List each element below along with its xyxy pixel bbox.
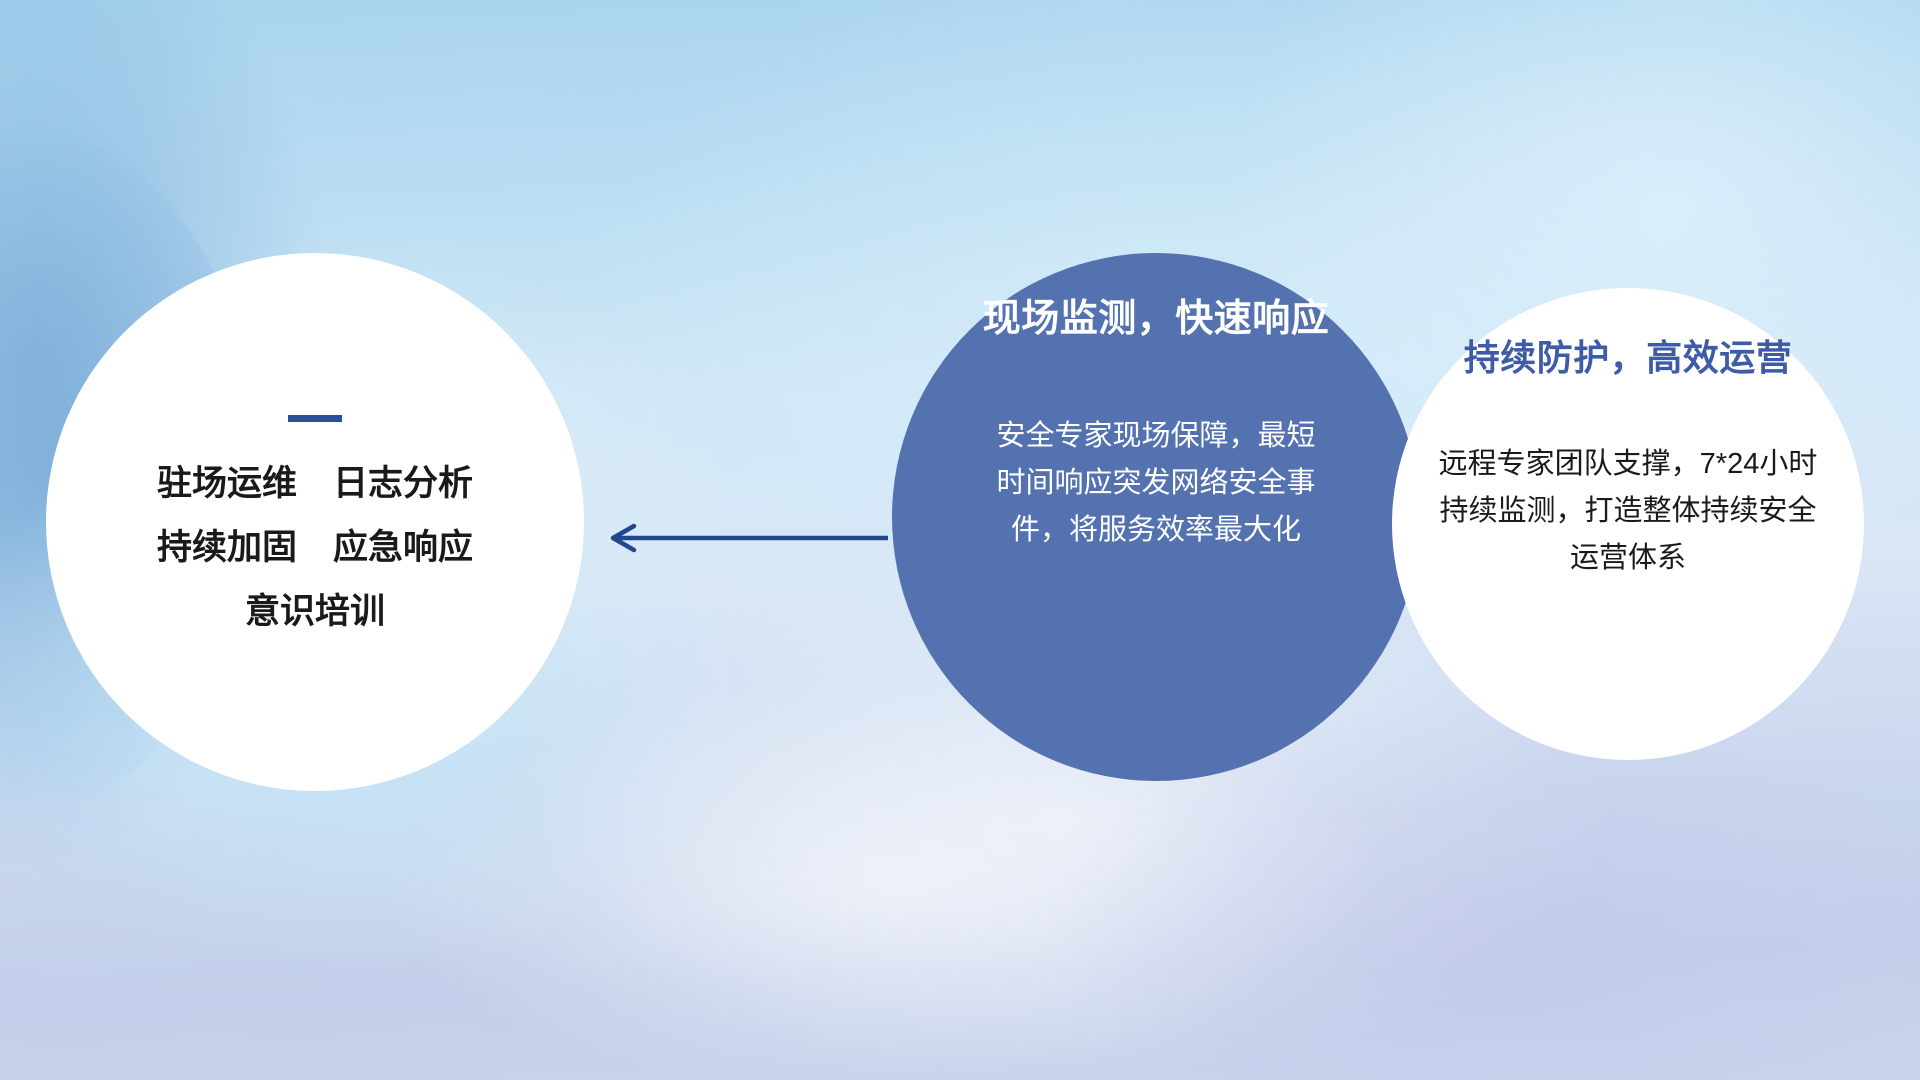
keyword-row: 意识培训 <box>245 594 385 629</box>
left-circle-card: 驻场运维 日志分析 持续加固 应急响应 意识培训 <box>46 253 584 791</box>
right-circle-card: 持续防护，高效运营 远程专家团队支撑，7*24小时持续监测，打造整体持续安全运营… <box>1392 288 1864 760</box>
right-circle-title: 持续防护，高效运营 <box>1464 336 1793 379</box>
middle-circle-body-text: 安全专家现场保障，最短时间响应突发网络安全事件，将服务效率最大化 <box>991 413 1321 554</box>
middle-circle-title: 现场监测，快速响应 <box>983 297 1330 343</box>
keyword-chip: 日志分析 <box>333 466 473 501</box>
flow-arrow-left-icon <box>600 520 890 556</box>
slide-canvas: 现场监测，快速响应 安全专家现场保障，最短时间响应突发网络安全事件，将服务效率最… <box>0 0 1920 1080</box>
right-circle-body-text: 远程专家团队支撑，7*24小时持续监测，打造整体持续安全运营体系 <box>1428 441 1828 582</box>
keyword-row: 持续加固 应急响应 <box>157 530 473 565</box>
keyword-chip: 驻场运维 <box>157 466 297 501</box>
divider-dash <box>288 415 342 422</box>
keyword-chip: 意识培训 <box>245 594 385 629</box>
left-circle-keyword-list: 驻场运维 日志分析 持续加固 应急响应 意识培训 <box>157 466 473 629</box>
keyword-row: 驻场运维 日志分析 <box>157 466 473 501</box>
keyword-chip: 应急响应 <box>333 530 473 565</box>
middle-circle-card: 现场监测，快速响应 安全专家现场保障，最短时间响应突发网络安全事件，将服务效率最… <box>892 253 1420 781</box>
keyword-chip: 持续加固 <box>157 530 297 565</box>
